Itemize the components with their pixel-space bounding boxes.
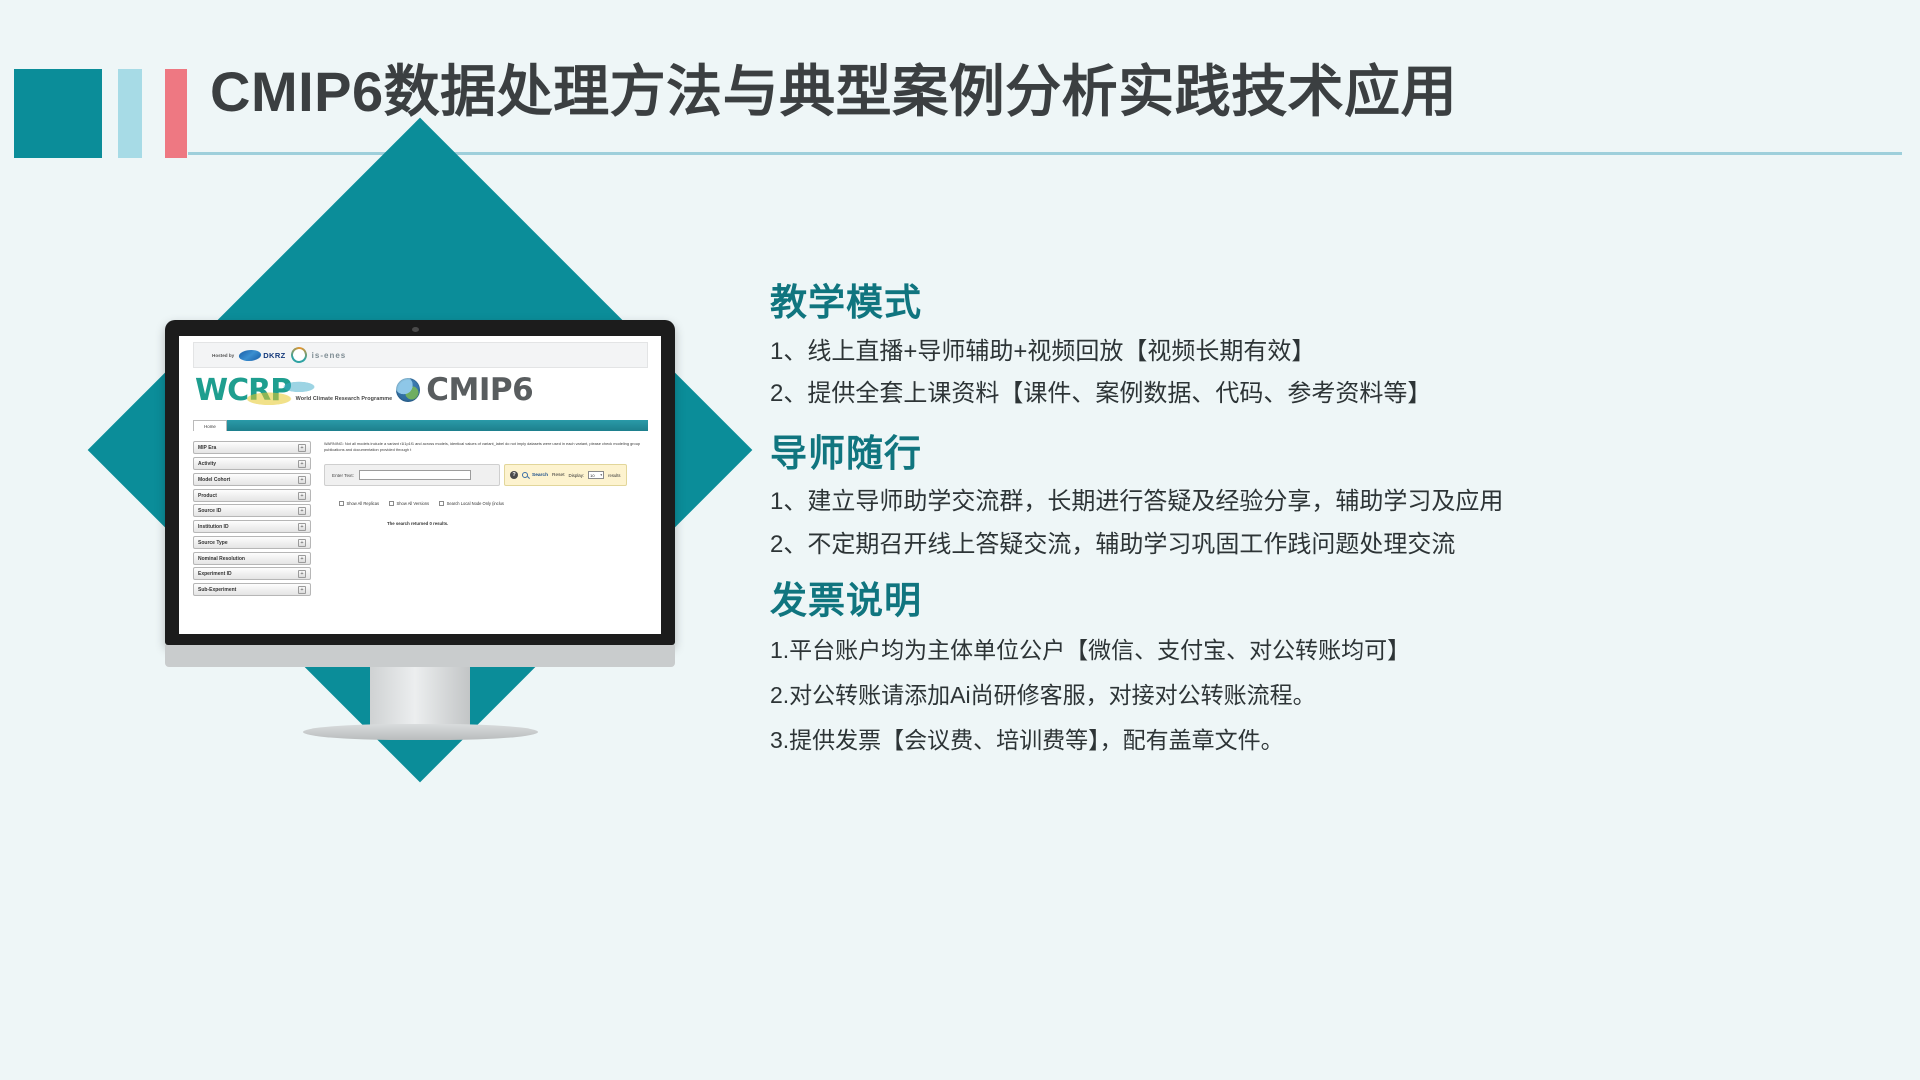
header-accent-bar-red — [165, 69, 187, 158]
monitor-stand-base — [303, 724, 538, 740]
section-line: 2、提供全套上课资料【课件、案例数据、代码、参考资料等】 — [770, 373, 1890, 416]
facet-group-1: MIP Era + Activity + Model Cohort + Pr — [193, 441, 311, 505]
monitor-bezel: Hosted by DKRZ is-enes WCRP Wo — [165, 320, 675, 645]
section-line: 1、线上直播+导师辅助+视频回放【视频长期有效】 — [770, 331, 1890, 374]
checkbox-show-all-versions[interactable]: Show All Versions — [389, 501, 429, 506]
warning-message: WARNING: Not all models include a varian… — [324, 441, 646, 453]
expand-icon[interactable]: + — [298, 586, 306, 594]
facet-group-2: Source ID + Institution ID + Source Type… — [193, 504, 311, 568]
isenes-ring-icon — [288, 345, 309, 366]
facet-label: Activity — [198, 461, 216, 467]
facet-label: Source ID — [198, 508, 221, 514]
checkbox-icon[interactable] — [439, 501, 444, 506]
search-row: Enter Text: ? Search Reset Display: 10 ▾ — [324, 464, 646, 486]
wcrp-logo-text: WCRP — [195, 373, 291, 408]
site-navbar — [193, 420, 648, 431]
search-input-label: Enter Text: — [332, 473, 354, 478]
info-content: 教学模式 1、线上直播+导师辅助+视频回放【视频长期有效】 2、提供全套上课资料… — [770, 275, 1890, 769]
facet-label: Product — [198, 493, 217, 499]
help-icon[interactable]: ? — [510, 471, 518, 479]
section-invoice-notes: 发票说明 1.平台账户均为主体单位公户【微信、支付宝、对公转账均可】 2.对公转… — [770, 573, 1890, 763]
results-word: results — [608, 473, 620, 478]
nav-tab-home[interactable]: Home — [193, 420, 227, 431]
page-header: CMIP6数据处理方法与典型案例分析实践技术应用 — [0, 0, 1920, 200]
monitor-chin — [165, 645, 675, 667]
search-icon — [522, 472, 528, 478]
expand-icon[interactable]: + — [298, 492, 306, 500]
search-input[interactable] — [359, 470, 471, 480]
facet-group-3: Experiment ID + Sub-Experiment + — [193, 567, 311, 599]
facet-model-cohort[interactable]: Model Cohort + — [193, 473, 311, 486]
expand-icon[interactable]: + — [298, 444, 306, 452]
section-heading-teaching: 教学模式 — [770, 275, 1890, 331]
facet-source-type[interactable]: Source Type + — [193, 536, 311, 549]
section-line: 2.对公转账请添加Ai尚研修客服，对接对公转账流程。 — [770, 673, 1890, 718]
section-line: 1、建立导师助学交流群，长期进行答疑及经验分享，辅助学习及应用 — [770, 481, 1890, 524]
chevron-down-icon: ▾ — [600, 473, 602, 477]
facet-label: Nominal Resolution — [198, 556, 245, 562]
page-title: CMIP6数据处理方法与典型案例分析实践技术应用 — [210, 63, 1457, 122]
checkbox-icon[interactable] — [389, 501, 394, 506]
facet-label: Sub-Experiment — [198, 587, 236, 593]
facet-product[interactable]: Product + — [193, 489, 311, 502]
wcrp-logo: WCRP World Climate Research Programme — [195, 377, 392, 406]
facet-label: MIP Era — [198, 445, 216, 451]
facet-institution-id[interactable]: Institution ID + — [193, 520, 311, 533]
search-result-message: The search returned 0 results. — [387, 521, 448, 526]
section-mentor-support: 导师随行 1、建立导师助学交流群，长期进行答疑及经验分享，辅助学习及应用 2、不… — [770, 426, 1890, 567]
section-heading-invoice: 发票说明 — [770, 573, 1890, 629]
hosted-by-label: Hosted by — [212, 353, 234, 358]
expand-icon[interactable]: + — [298, 476, 306, 484]
section-line: 2、不定期召开线上答疑交流，辅助学习巩固工作践问题处理交流 — [770, 524, 1890, 567]
display-label: Display: — [569, 473, 585, 478]
wcrp-tagline: World Climate Research Programme — [296, 396, 393, 402]
hosted-by-bar: Hosted by DKRZ is-enes — [193, 342, 648, 368]
expand-icon[interactable]: + — [298, 523, 306, 531]
facet-label: Source Type — [198, 540, 228, 546]
reset-button[interactable]: Reset — [552, 473, 565, 478]
facet-mip-era[interactable]: MIP Era + — [193, 441, 311, 454]
checkbox-label: Search Local Node Only (inclus — [447, 501, 504, 506]
site-brand: WCRP World Climate Research Programme CM… — [195, 376, 533, 405]
checkbox-search-local-node-only[interactable]: Search Local Node Only (inclus — [439, 501, 504, 506]
section-teaching-mode: 教学模式 1、线上直播+导师辅助+视频回放【视频长期有效】 2、提供全套上课资料… — [770, 275, 1890, 416]
facet-label: Model Cohort — [198, 477, 230, 483]
dkrz-logo-text: DKRZ — [263, 351, 285, 360]
expand-icon[interactable]: + — [298, 539, 306, 547]
globe-icon — [396, 378, 420, 402]
header-accent-bar-light-blue — [118, 69, 142, 158]
dkrz-swoosh-icon — [238, 350, 263, 361]
section-heading-mentor: 导师随行 — [770, 426, 1890, 482]
facet-nominal-resolution[interactable]: Nominal Resolution + — [193, 552, 311, 565]
search-actions: ? Search Reset Display: 10 ▾ results — [504, 464, 627, 486]
expand-icon[interactable]: + — [298, 507, 306, 515]
isenes-logo-text: is-enes — [312, 351, 347, 360]
expand-icon[interactable]: + — [298, 555, 306, 563]
checkbox-label: Show All Versions — [397, 501, 430, 506]
section-line: 1.平台账户均为主体单位公户【微信、支付宝、对公转账均可】 — [770, 628, 1890, 673]
facet-label: Experiment ID — [198, 571, 232, 577]
monitor-stand-neck — [370, 667, 470, 729]
checkbox-show-all-replicas[interactable]: Show All Replicas — [339, 501, 379, 506]
facet-experiment-id[interactable]: Experiment ID + — [193, 567, 311, 580]
expand-icon[interactable]: + — [298, 570, 306, 578]
display-count-select[interactable]: 10 ▾ — [588, 471, 604, 479]
facet-activity[interactable]: Activity + — [193, 457, 311, 470]
search-options-row: Show All Replicas Show All Versions Sear… — [339, 501, 649, 506]
webcam-icon — [412, 327, 419, 332]
facet-sub-experiment[interactable]: Sub-Experiment + — [193, 583, 311, 596]
cmip6-logo-text: CMIP6 — [426, 376, 533, 405]
facet-label: Institution ID — [198, 524, 229, 530]
facet-source-id[interactable]: Source ID + — [193, 504, 311, 517]
header-accent-bar-teal — [14, 69, 102, 158]
display-count-value: 10 — [590, 473, 594, 478]
monitor-screen: Hosted by DKRZ is-enes WCRP Wo — [179, 336, 661, 634]
checkbox-label: Show All Replicas — [347, 501, 380, 506]
checkbox-icon[interactable] — [339, 501, 344, 506]
dkrz-logo: DKRZ — [239, 350, 285, 361]
monitor-illustration: Hosted by DKRZ is-enes WCRP Wo — [165, 320, 675, 740]
search-box: Enter Text: — [324, 464, 500, 486]
section-line: 3.提供发票【会议费、培训费等】，配有盖章文件。 — [770, 718, 1890, 763]
expand-icon[interactable]: + — [298, 460, 306, 468]
visual-panel: Hosted by DKRZ is-enes WCRP Wo — [90, 195, 750, 860]
search-button[interactable]: Search — [532, 473, 548, 478]
esgf-cmip6-search-page: Hosted by DKRZ is-enes WCRP Wo — [179, 336, 661, 634]
